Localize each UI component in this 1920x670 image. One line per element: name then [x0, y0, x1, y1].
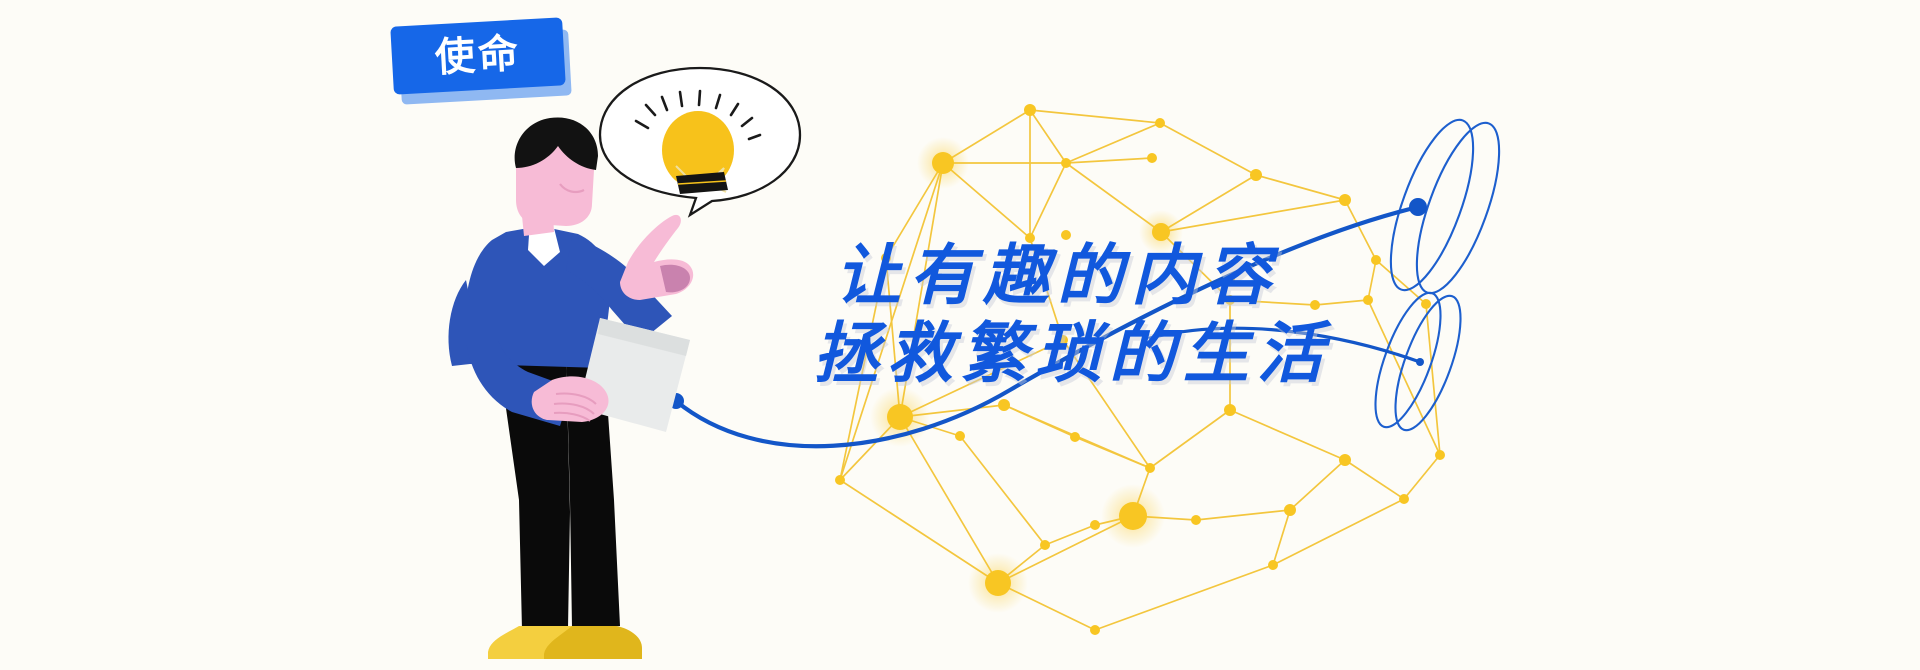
mission-badge-plate: 使命: [390, 17, 566, 94]
pointing-hand: [620, 215, 693, 300]
man-pointing-with-clipboard: [0, 0, 1920, 670]
mission-badge-label: 使命: [434, 34, 522, 79]
shoes: [488, 626, 642, 659]
idea-speech-bubble: [600, 68, 800, 215]
mission-badge: 使命: [386, 8, 576, 108]
hero-banner: 让有趣的内容 拯救繁琐的生活 使命: [0, 0, 1920, 670]
